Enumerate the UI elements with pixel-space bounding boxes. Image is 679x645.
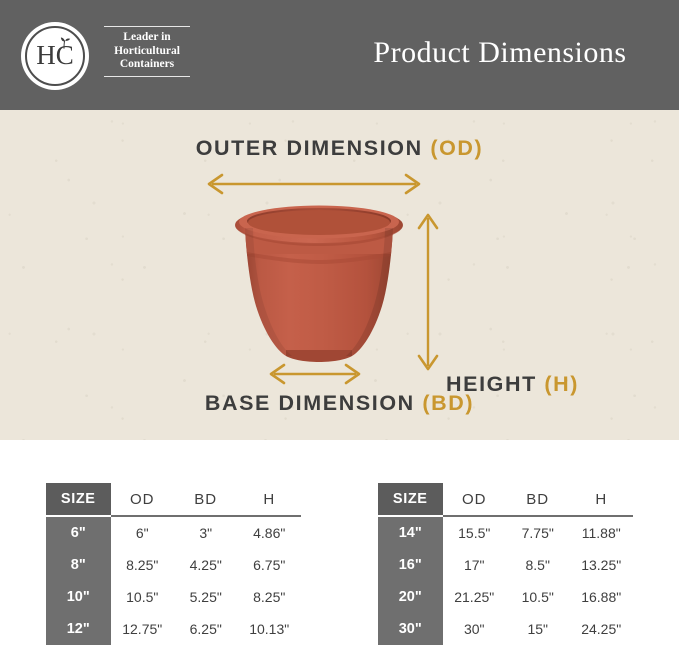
- cell-size: 30": [378, 613, 443, 645]
- cell-od: 30": [443, 613, 506, 645]
- table-row: 6" 6" 3" 4.86": [46, 516, 301, 549]
- size-table-large: SIZE OD BD H 14" 15.5" 7.75" 11.88" 16" …: [378, 483, 633, 645]
- cell-size: 10": [46, 581, 111, 613]
- column-header-od: OD: [443, 483, 506, 516]
- table-header-row: SIZE OD BD H: [378, 483, 633, 516]
- brand-logo: HC Leader in Horticultural Containers: [21, 22, 193, 92]
- table-row: 20" 21.25" 10.5" 16.88": [378, 581, 633, 613]
- tagline-rule-bottom: [104, 76, 190, 77]
- cell-h: 4.86": [237, 516, 301, 549]
- cell-od: 21.25": [443, 581, 506, 613]
- height-arrow: [416, 206, 440, 378]
- table-row: 12" 12.75" 6.25" 10.13": [46, 613, 301, 645]
- table-row: 8" 8.25" 4.25" 6.75": [46, 549, 301, 581]
- base-dimension-arrow: [262, 362, 368, 386]
- cell-h: 24.25": [569, 613, 633, 645]
- cell-od: 15.5": [443, 516, 506, 549]
- cell-bd: 7.75": [506, 516, 569, 549]
- page-title: Product Dimensions: [330, 36, 670, 70]
- cell-bd: 5.25": [174, 581, 237, 613]
- cell-od: 17": [443, 549, 506, 581]
- cell-od: 6": [111, 516, 174, 549]
- table-row: 10" 10.5" 5.25" 8.25": [46, 581, 301, 613]
- size-table-small: SIZE OD BD H 6" 6" 3" 4.86" 8" 8.25" 4.2…: [46, 483, 301, 645]
- cell-bd: 6.25": [174, 613, 237, 645]
- logo-tagline: Leader in Horticultural Containers: [101, 26, 193, 77]
- column-header-bd: BD: [506, 483, 569, 516]
- cell-size: 20": [378, 581, 443, 613]
- cell-size: 16": [378, 549, 443, 581]
- page-header: HC Leader in Horticultural Containers Pr…: [0, 0, 679, 110]
- column-header-size: SIZE: [46, 483, 111, 516]
- cell-size: 14": [378, 516, 443, 549]
- outer-dimension-arrow: [200, 172, 428, 196]
- outer-dimension-text: OUTER DIMENSION: [196, 136, 431, 160]
- dimensions-diagram: OUTER DIMENSION (OD): [0, 110, 679, 440]
- column-header-h: H: [237, 483, 301, 516]
- tagline-line-3: Containers: [101, 58, 193, 72]
- cell-size: 12": [46, 613, 111, 645]
- cell-h: 6.75": [237, 549, 301, 581]
- base-dimension-abbr: (BD): [422, 391, 474, 415]
- cell-h: 11.88": [569, 516, 633, 549]
- cell-bd: 10.5": [506, 581, 569, 613]
- cell-bd: 4.25": [174, 549, 237, 581]
- column-header-bd: BD: [174, 483, 237, 516]
- cell-size: 8": [46, 549, 111, 581]
- cell-od: 10.5": [111, 581, 174, 613]
- cell-bd: 3": [174, 516, 237, 549]
- logo-monogram: HC: [21, 40, 89, 70]
- outer-dimension-label: OUTER DIMENSION (OD): [0, 136, 679, 161]
- cell-bd: 8.5": [506, 549, 569, 581]
- tagline-line-1: Leader in: [101, 31, 193, 45]
- cell-h: 8.25": [237, 581, 301, 613]
- table-row: 16" 17" 8.5" 13.25": [378, 549, 633, 581]
- cell-h: 10.13": [237, 613, 301, 645]
- tagline-line-2: Horticultural: [101, 45, 193, 59]
- cell-bd: 15": [506, 613, 569, 645]
- cell-od: 12.75": [111, 613, 174, 645]
- logo-badge-circle: HC: [21, 22, 89, 90]
- cell-size: 6": [46, 516, 111, 549]
- flower-pot-illustration: [228, 198, 410, 370]
- column-header-od: OD: [111, 483, 174, 516]
- cell-h: 13.25": [569, 549, 633, 581]
- table-row: 30" 30" 15" 24.25": [378, 613, 633, 645]
- column-header-size: SIZE: [378, 483, 443, 516]
- column-header-h: H: [569, 483, 633, 516]
- cell-od: 8.25": [111, 549, 174, 581]
- base-dimension-text: BASE DIMENSION: [205, 391, 423, 415]
- table-header-row: SIZE OD BD H: [46, 483, 301, 516]
- base-dimension-label: BASE DIMENSION (BD): [0, 391, 679, 416]
- outer-dimension-abbr: (OD): [430, 136, 483, 160]
- cell-h: 16.88": [569, 581, 633, 613]
- table-row: 14" 15.5" 7.75" 11.88": [378, 516, 633, 549]
- tagline-text: Leader in Horticultural Containers: [101, 27, 193, 76]
